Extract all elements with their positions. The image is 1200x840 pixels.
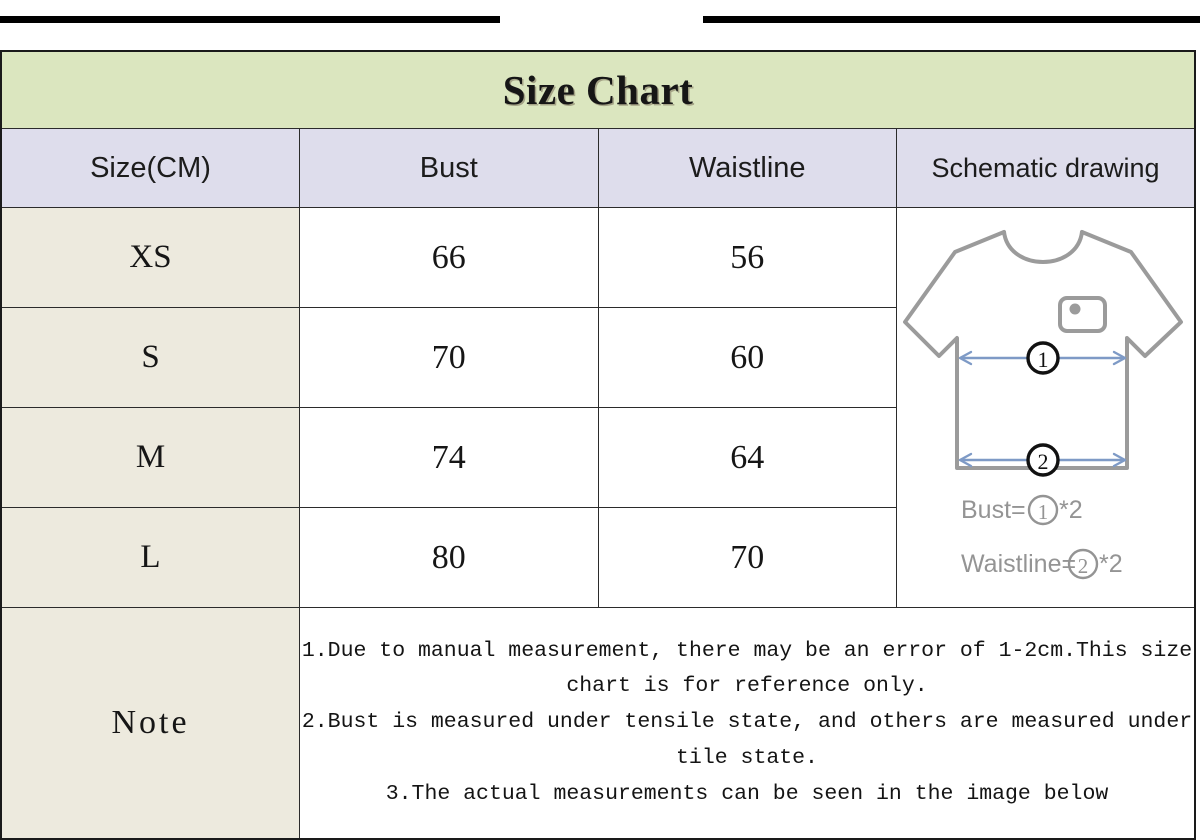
formula-bust-marker-label: 1 bbox=[1038, 500, 1049, 524]
formula-bust-label: Bust= bbox=[961, 496, 1026, 524]
column-header-schematic: Schematic drawing bbox=[897, 129, 1196, 208]
column-header-schematic-label: Schematic drawing bbox=[931, 153, 1159, 183]
size-chart-container: Size Chart Size(CM) Bust Waistline Schem… bbox=[0, 50, 1196, 838]
cell-size-value: L bbox=[140, 539, 160, 575]
chart-title-cell: Size Chart bbox=[1, 51, 1195, 129]
column-header-waistline: Waistline bbox=[598, 129, 897, 208]
tshirt-schematic-svg: 1 2 Bust= 1 bbox=[897, 210, 1193, 606]
cell-bust: 74 bbox=[300, 408, 599, 508]
column-header-size-label: Size(CM) bbox=[90, 152, 211, 184]
collar-icon bbox=[1004, 232, 1082, 262]
cell-size-value: S bbox=[141, 339, 159, 375]
cell-waistline: 56 bbox=[598, 208, 897, 308]
column-header-bust: Bust bbox=[300, 129, 599, 208]
note-row: Note 1.Due to manual measurement, there … bbox=[1, 608, 1195, 840]
size-chart-table: Size Chart Size(CM) Bust Waistline Schem… bbox=[0, 50, 1196, 840]
bust-measure-arrow: 1 bbox=[960, 343, 1125, 373]
black-bar-right-icon bbox=[703, 16, 1200, 23]
cell-bust-value: 70 bbox=[432, 339, 466, 376]
note-text: 1.Due to manual measurement, there may b… bbox=[300, 634, 1194, 812]
cell-size: S bbox=[1, 308, 300, 408]
cell-size: XS bbox=[1, 208, 300, 308]
cell-size: L bbox=[1, 508, 300, 608]
cell-waistline: 64 bbox=[598, 408, 897, 508]
marker-1-label: 1 bbox=[1038, 347, 1049, 372]
formula-waistline-suffix: *2 bbox=[1099, 550, 1123, 578]
formula-waistline-marker-label: 2 bbox=[1078, 554, 1089, 578]
formula-bust-suffix: *2 bbox=[1059, 496, 1083, 524]
column-header-row: Size(CM) Bust Waistline Schematic drawin… bbox=[1, 129, 1195, 208]
cell-bust: 80 bbox=[300, 508, 599, 608]
cell-size-value: XS bbox=[129, 239, 171, 275]
cell-waistline-value: 64 bbox=[730, 439, 764, 476]
cell-bust: 66 bbox=[300, 208, 599, 308]
page-title: Size Chart bbox=[503, 67, 694, 113]
cell-waistline-value: 60 bbox=[730, 339, 764, 376]
schematic-drawing-cell: 1 2 Bust= 1 bbox=[897, 208, 1196, 608]
marker-2-label: 2 bbox=[1038, 449, 1049, 474]
cell-size: M bbox=[1, 408, 300, 508]
chart-title-row: Size Chart bbox=[1, 51, 1195, 129]
black-bar-left-icon bbox=[0, 16, 500, 23]
column-header-waistline-label: Waistline bbox=[689, 152, 806, 184]
table-row: XS 66 56 bbox=[1, 208, 1195, 308]
top-decorative-bars bbox=[0, 0, 1200, 50]
schematic-inner: 1 2 Bust= 1 bbox=[897, 210, 1193, 606]
cell-bust-value: 74 bbox=[432, 439, 466, 476]
note-label-cell: Note bbox=[1, 608, 300, 840]
cell-bust-value: 66 bbox=[432, 239, 466, 276]
column-header-size: Size(CM) bbox=[1, 129, 300, 208]
cell-waistline: 70 bbox=[598, 508, 897, 608]
cell-size-value: M bbox=[136, 439, 165, 475]
pocket-tag-icon bbox=[1060, 298, 1105, 331]
note-label: Note bbox=[111, 704, 189, 741]
cell-bust-value: 80 bbox=[432, 539, 466, 576]
cell-bust: 70 bbox=[300, 308, 599, 408]
formula-waistline-label: Waistline= bbox=[961, 550, 1076, 578]
note-body-cell: 1.Due to manual measurement, there may b… bbox=[300, 608, 1196, 840]
cell-waistline-value: 70 bbox=[730, 539, 764, 576]
cell-waistline-value: 56 bbox=[730, 239, 764, 276]
column-header-bust-label: Bust bbox=[420, 152, 478, 184]
cell-waistline: 60 bbox=[598, 308, 897, 408]
waistline-measure-arrow: 2 bbox=[960, 445, 1125, 475]
